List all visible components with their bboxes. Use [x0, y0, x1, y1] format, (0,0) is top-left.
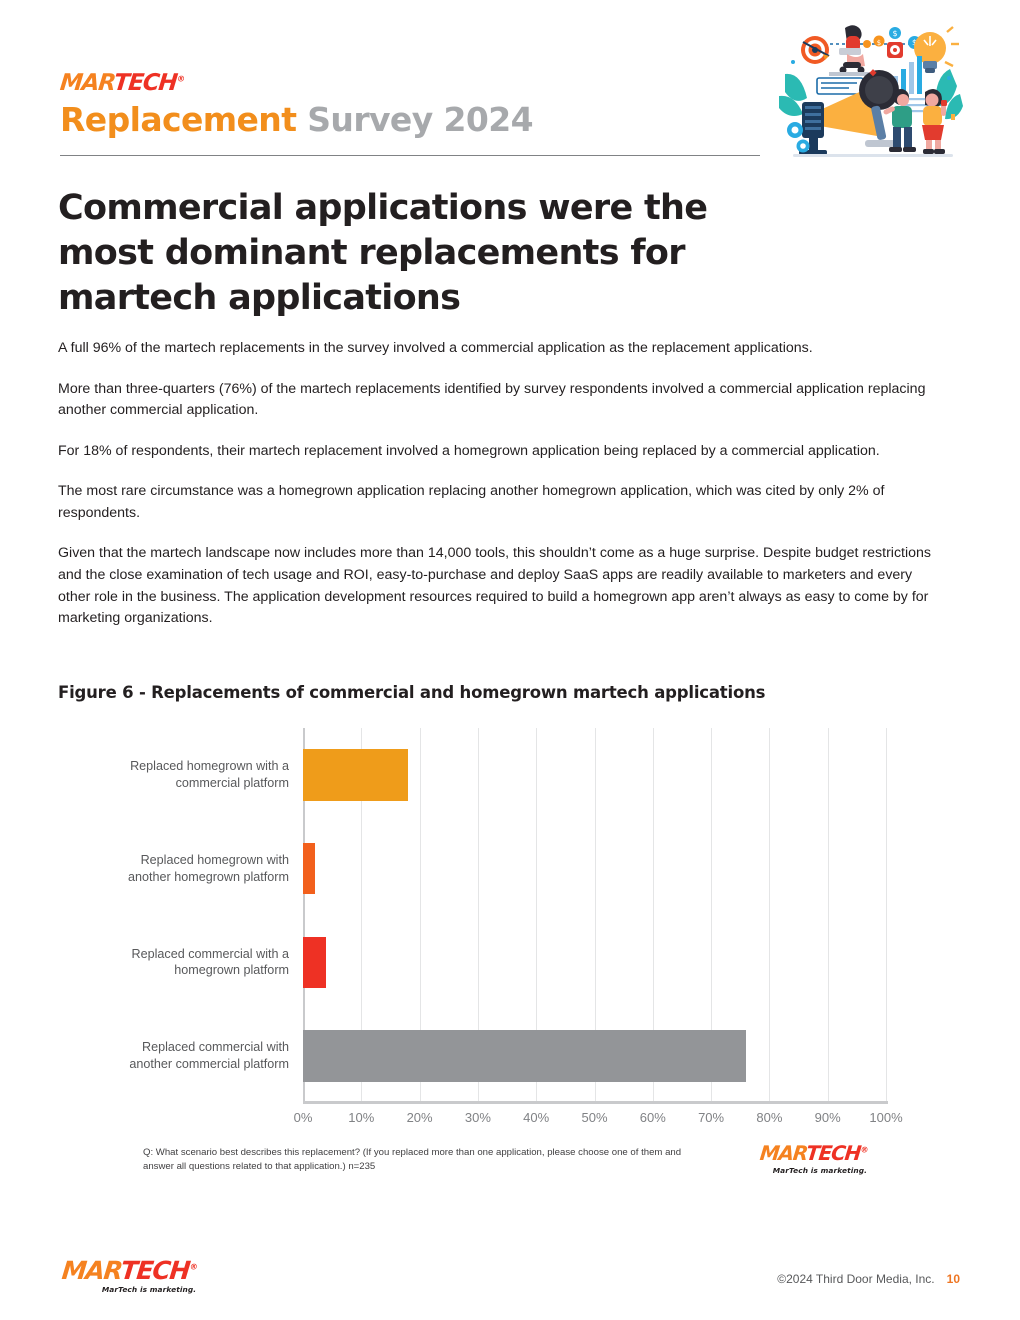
martech-logo-header: MARTECH® [59, 72, 185, 95]
chart-x-tick-label: 70% [698, 1110, 724, 1125]
chart-x-tick-label: 90% [815, 1110, 841, 1125]
report-title-secondary: Survey 2024 [307, 100, 533, 139]
marketing-team-illustration: $ $ $ [775, 14, 965, 162]
svg-text:$: $ [877, 39, 881, 47]
plant-leaf-left [785, 74, 807, 101]
chart-bar-row: Replaced homegrown with another homegrow… [303, 843, 886, 895]
document-page: MARTECH® Replacement Survey 2024 [0, 0, 1020, 1320]
logo-trademark-icon: ® [177, 74, 185, 83]
figure-caption: Figure 6 - Replacements of commercial an… [58, 683, 765, 702]
paragraph-1: A full 96% of the martech replacements i… [58, 338, 934, 360]
fig-logo-trademark-icon: ® [860, 1145, 868, 1154]
chart-bar-row: Replaced commercial with a homegrown pla… [303, 937, 886, 989]
chart-bar-row: Replaced homegrown with a commercial pla… [303, 749, 886, 801]
chart-x-tick-label: 50% [581, 1110, 607, 1125]
chart-gridline [886, 728, 887, 1103]
logo-text-mar: MAR [59, 70, 115, 96]
martech-logo-footer: MARTECH® MarTech is marketing. [62, 1258, 196, 1294]
chart-x-tick-label: 10% [348, 1110, 374, 1125]
chart-bar-label: Replaced commercial with a homegrown pla… [79, 946, 289, 979]
chart-x-tick-label: 0% [294, 1110, 313, 1125]
chart-x-tick-label: 80% [756, 1110, 782, 1125]
chart-bar-label: Replaced homegrown with a commercial pla… [79, 758, 289, 791]
chart-bar [303, 1030, 746, 1082]
martech-logo-figure: MARTECH® MarTech is marketing. [760, 1143, 867, 1175]
chart-bar [303, 843, 315, 895]
chart-x-axis-labels: 0%10%20%30%40%50%60%70%80%90%100% [303, 1110, 886, 1134]
chart-x-tick-label: 30% [465, 1110, 491, 1125]
page-number: 10 [947, 1272, 960, 1286]
logo-text-tech: TECH [112, 70, 177, 96]
fig-logo-text-mar: MAR [759, 1141, 808, 1165]
copyright-text: ©2024 Third Door Media, Inc. [777, 1272, 934, 1286]
chart-x-tick-label: 60% [640, 1110, 666, 1125]
fig-logo-tagline: MarTech is marketing. [760, 1166, 867, 1175]
chart-x-tick-label: 40% [523, 1110, 549, 1125]
paragraph-3: For 18% of respondents, their martech re… [58, 441, 934, 463]
target-icon [801, 36, 829, 64]
page-title: Commercial applications were the most do… [58, 186, 778, 320]
chart-bar-label: Replaced commercial with another commerc… [79, 1039, 289, 1072]
header-divider [60, 155, 760, 156]
report-title-primary: Replacement [60, 100, 296, 139]
paragraph-5: Given that the martech landscape now inc… [58, 543, 934, 629]
footer-logo-trademark-icon: ® [189, 1263, 197, 1272]
figure-note: Q: What scenario best describes this rep… [143, 1146, 703, 1174]
chart-x-tick-label: 20% [407, 1110, 433, 1125]
report-title: Replacement Survey 2024 [60, 101, 770, 139]
footer-logo-tagline: MarTech is marketing. [62, 1285, 196, 1294]
chart-bar-label: Replaced homegrown with another homegrow… [79, 852, 289, 885]
footer-meta: ©2024 Third Door Media, Inc.10 [777, 1272, 960, 1286]
chart-bar-row: Replaced commercial with another commerc… [303, 1030, 886, 1082]
chart-plot-area: Replaced homegrown with a commercial pla… [303, 728, 886, 1103]
bar-chart: Replaced homegrown with a commercial pla… [60, 728, 910, 1133]
body-text-block: A full 96% of the martech replacements i… [58, 338, 934, 649]
svg-text:$: $ [892, 29, 897, 38]
paragraph-4: The most rare circumstance was a homegro… [58, 481, 934, 524]
document-header: MARTECH® Replacement Survey 2024 [60, 72, 770, 139]
chart-bar [303, 749, 408, 801]
footer-logo-text-mar: MAR [60, 1256, 122, 1285]
chart-bar [303, 937, 326, 989]
footer-logo-text-tech: TECH [119, 1256, 191, 1285]
chart-axis-baseline [303, 1101, 888, 1104]
paragraph-2: More than three-quarters (76%) of the ma… [58, 379, 934, 422]
fig-logo-text-tech: TECH [805, 1141, 861, 1165]
chart-x-tick-label: 100% [869, 1110, 902, 1125]
